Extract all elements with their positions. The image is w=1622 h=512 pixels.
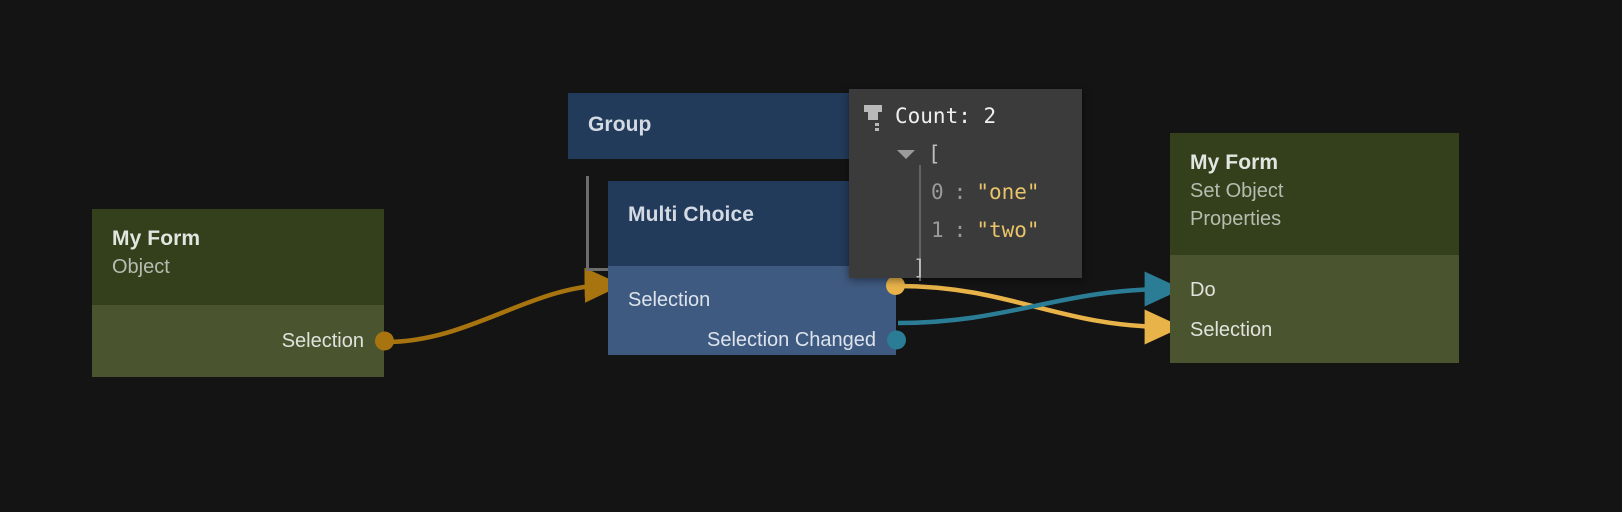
port-label: Selection Changed <box>707 329 876 352</box>
node-subtitle: Object <box>112 253 364 281</box>
port-dot-selection-changed[interactable] <box>887 331 906 350</box>
port-dot-selection-output[interactable] <box>375 332 394 351</box>
node-my-form-set-object-properties[interactable]: My Form Set Object Properties Do Selecti… <box>1170 133 1459 363</box>
chevron-down-icon[interactable] <box>897 150 915 159</box>
pushpin-icon[interactable] <box>863 103 883 129</box>
array-value: "two" <box>976 211 1039 249</box>
port-label: Selection <box>1190 319 1272 342</box>
node-header[interactable]: My Form Object <box>92 209 384 305</box>
node-title: My Form <box>112 225 364 253</box>
node-subtitle-line2: Properties <box>1190 205 1439 233</box>
array-open-bracket: [ <box>928 135 941 173</box>
port-row-selection-input[interactable]: Selection <box>1170 310 1459 350</box>
node-body: Do Selection <box>1170 255 1459 363</box>
array-value: "one" <box>976 173 1039 211</box>
port-row-selection-input[interactable]: Selection <box>608 280 896 320</box>
node-graph-canvas[interactable]: My Form Object Selection Group Multi Cho… <box>0 0 1622 512</box>
tooltip-count-label: Count: 2 <box>895 97 996 135</box>
array-separator: : <box>944 211 977 249</box>
node-title: Multi Choice <box>628 201 876 229</box>
wire-selection-changed-to-target-do <box>898 289 1168 323</box>
node-subtitle-line1: Set Object <box>1190 177 1439 205</box>
port-label: Do <box>1190 279 1216 302</box>
node-title: My Form <box>1190 149 1439 177</box>
node-header[interactable]: My Form Set Object Properties <box>1170 133 1459 255</box>
tooltip-array-close-row: ] <box>863 249 1068 287</box>
group-containment-bracket <box>586 176 608 271</box>
group-header[interactable]: Group <box>568 93 856 159</box>
wire-multichoice-value-to-target-selection <box>898 286 1168 327</box>
node-group[interactable]: Group <box>568 93 856 159</box>
tooltip-array-item[interactable]: 0 : "one" <box>863 173 1068 211</box>
tooltip-array-open-row[interactable]: [ <box>863 135 1068 173</box>
port-row-selection-changed-output[interactable]: Selection Changed <box>608 320 896 360</box>
port-label: Selection <box>282 330 364 353</box>
tooltip-header: Count: 2 <box>863 97 1068 135</box>
node-body: Selection Selection Changed <box>608 266 896 355</box>
group-title: Group <box>588 111 836 139</box>
node-body: Selection <box>92 305 384 377</box>
port-row-do-input[interactable]: Do <box>1170 270 1459 310</box>
port-label: Selection <box>628 289 710 312</box>
array-index: 0 <box>931 173 944 211</box>
array-index: 1 <box>931 211 944 249</box>
array-separator: : <box>944 173 977 211</box>
node-my-form-object[interactable]: My Form Object Selection <box>92 209 384 377</box>
wire-source-selection-to-multichoice <box>386 285 608 342</box>
array-close-bracket: ] <box>863 249 926 287</box>
value-inspector-tooltip[interactable]: Count: 2 [ 0 : "one" 1 : "two" ] <box>849 89 1082 278</box>
port-row-selection-output[interactable]: Selection <box>92 321 384 361</box>
tooltip-array-item[interactable]: 1 : "two" <box>863 211 1068 249</box>
